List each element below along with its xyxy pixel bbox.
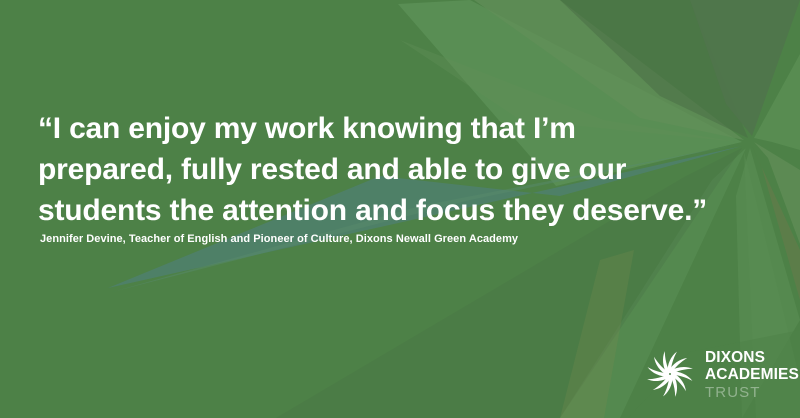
quote-line-3: students the attention and focus they de…	[38, 190, 678, 231]
quote-line-1: “I can enjoy my work knowing that I’m	[38, 108, 678, 149]
quote-text: “I can enjoy my work knowing that I’m pr…	[38, 108, 678, 231]
dixons-academies-trust-logo: DIXONS ACADEMIES TRUST	[644, 345, 786, 403]
logo-line-trust: TRUST	[705, 385, 799, 400]
logo-line-dixons: DIXONS	[705, 350, 799, 366]
quote-attribution: Jennifer Devine, Teacher of English and …	[40, 232, 518, 246]
quote-banner: “I can enjoy my work knowing that I’m pr…	[0, 0, 800, 418]
quote-line-2: prepared, fully rested and able to give …	[38, 149, 678, 190]
banner-content: “I can enjoy my work knowing that I’m pr…	[0, 0, 800, 418]
logo-wordmark: DIXONS ACADEMIES TRUST	[705, 349, 799, 400]
pinwheel-starburst-icon	[644, 348, 696, 400]
logo-line-academies: ACADEMIES	[705, 367, 799, 383]
